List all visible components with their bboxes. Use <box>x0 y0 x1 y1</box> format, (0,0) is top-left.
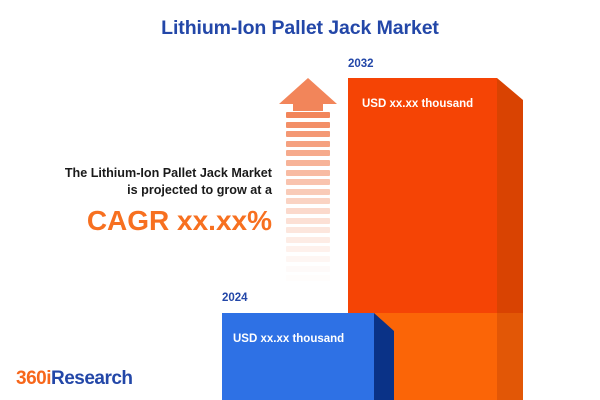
arrow-stripe <box>286 198 330 204</box>
arrow-stripe <box>286 256 330 262</box>
bar-2024-front-face <box>222 313 374 400</box>
page-title: Lithium-Ion Pallet Jack Market <box>0 17 600 40</box>
growth-arrow-icon <box>279 78 337 290</box>
arrow-stripe <box>286 122 330 128</box>
bar-2032-value-label: USD xx.xx thousand <box>362 98 473 110</box>
arrow-shaft <box>286 112 330 290</box>
bar-2032-year-label: 2032 <box>348 58 374 70</box>
arrow-stripe <box>286 112 330 118</box>
brand-logo: 360iResearch <box>16 368 133 390</box>
arrow-stripe <box>286 141 330 147</box>
cagr-line-2: is projected to grow at a <box>16 182 272 199</box>
cagr-line-1: The Lithium-Ion Pallet Jack Market <box>16 165 272 182</box>
arrow-stripe <box>286 275 330 281</box>
arrow-stripe <box>286 131 330 137</box>
bar-2024: 2024 USD xx.xx thousand <box>222 313 394 400</box>
bar-2024-side-face <box>374 313 394 400</box>
logo-name: Research <box>51 368 133 389</box>
bar-2024-year-label: 2024 <box>222 292 248 304</box>
arrow-stripe <box>286 218 330 224</box>
infographic-canvas: Lithium-Ion Pallet Jack Market 2032 USD … <box>0 0 600 400</box>
cagr-callout: The Lithium-Ion Pallet Jack Market is pr… <box>16 165 272 237</box>
arrow-stripe <box>286 246 330 252</box>
arrow-head-icon <box>279 78 337 111</box>
arrow-stripe <box>286 179 330 185</box>
arrow-stripe <box>286 227 330 233</box>
arrow-stripe <box>286 237 330 243</box>
cagr-value: CAGR xx.xx% <box>16 205 272 237</box>
arrow-stripe <box>286 160 330 166</box>
logo-mark: 360i <box>16 368 51 389</box>
arrow-stripe <box>286 150 330 156</box>
arrow-stripe <box>286 285 330 291</box>
arrow-stripe <box>286 170 330 176</box>
bar-2032-side-lower-tint <box>497 313 523 400</box>
arrow-stripe <box>286 208 330 214</box>
arrow-stripe <box>286 189 330 195</box>
arrow-stripe <box>286 266 330 272</box>
bar-2024-value-label: USD xx.xx thousand <box>233 333 344 345</box>
